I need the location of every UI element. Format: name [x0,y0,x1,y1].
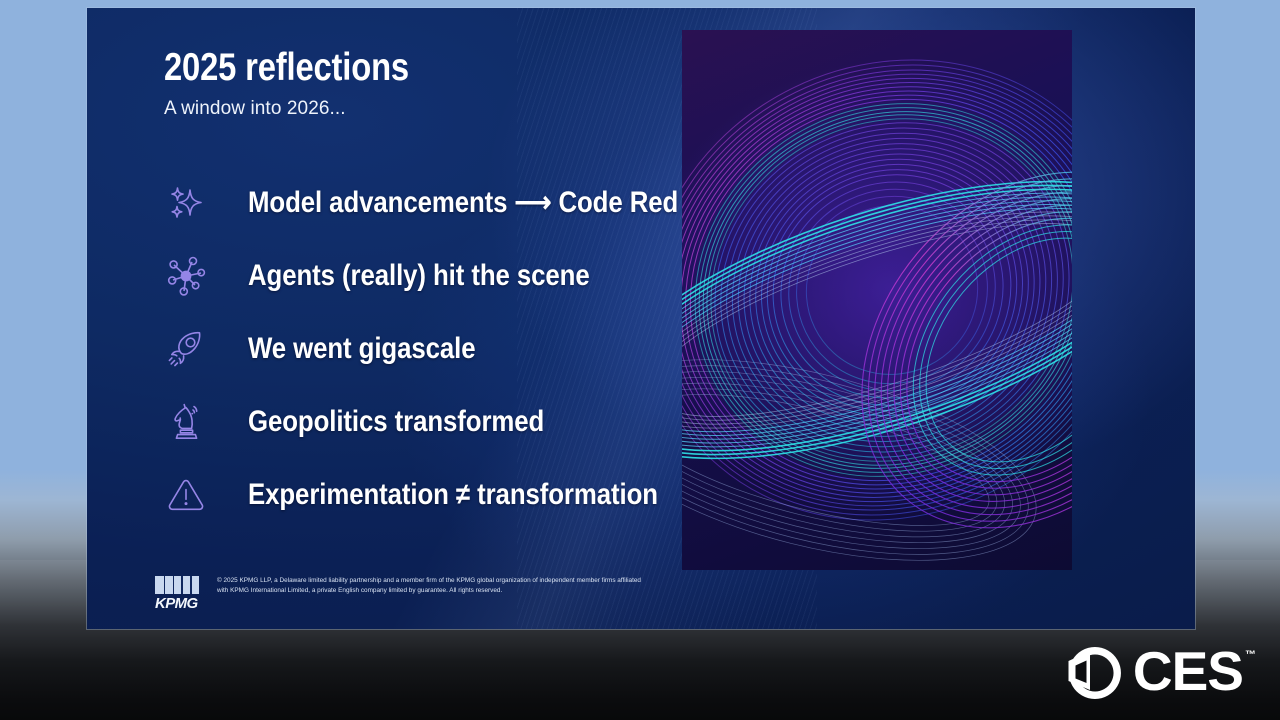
sparkles-icon [157,175,215,231]
chess-knight-icon [157,394,215,450]
slide-subtitle: A window into 2026... [164,98,346,120]
ces-logo: CES ™ [1066,645,1256,706]
bullet-label: Geopolitics transformed [248,405,544,439]
ces-logo-mark [1066,645,1124,706]
network-nodes-icon [157,248,215,304]
legal-disclaimer: © 2025 KPMG LLP, a Delaware limited liab… [217,576,647,595]
slide-footer: KPMG © 2025 KPMG LLP, a Delaware limited… [155,576,775,612]
warning-triangle-icon [157,467,215,523]
bullet-label: Agents (really) hit the scene [248,259,590,293]
kpmg-logo: KPMG [155,576,207,612]
bullet-list: Model advancements ⟶ Code Red [157,166,777,531]
bullet-item-geopolitics: Geopolitics transformed [157,385,777,458]
bullet-item-experimentation: Experimentation ≠ transformation [157,458,777,531]
kpmg-logo-mark [155,576,199,594]
slide: 2025 reflections A window into 2026... M… [87,8,1195,629]
slide-title: 2025 reflections [164,46,409,90]
bullet-item-model-advancements: Model advancements ⟶ Code Red [157,166,777,239]
bullet-label: Experimentation ≠ transformation [248,478,658,512]
bullet-item-agents: Agents (really) hit the scene [157,239,777,312]
ces-circle-glyph [1066,645,1124,701]
bullet-item-gigascale: We went gigascale [157,312,777,385]
presentation-stage: 2025 reflections A window into 2026... M… [0,0,1280,720]
bullet-label: Model advancements ⟶ Code Red [248,185,678,220]
rocket-icon [157,321,215,377]
kpmg-wordmark: KPMG [155,595,207,612]
ces-wordmark: CES [1133,645,1243,697]
ces-trademark-symbol: ™ [1245,649,1256,661]
bullet-label: We went gigascale [248,332,475,366]
